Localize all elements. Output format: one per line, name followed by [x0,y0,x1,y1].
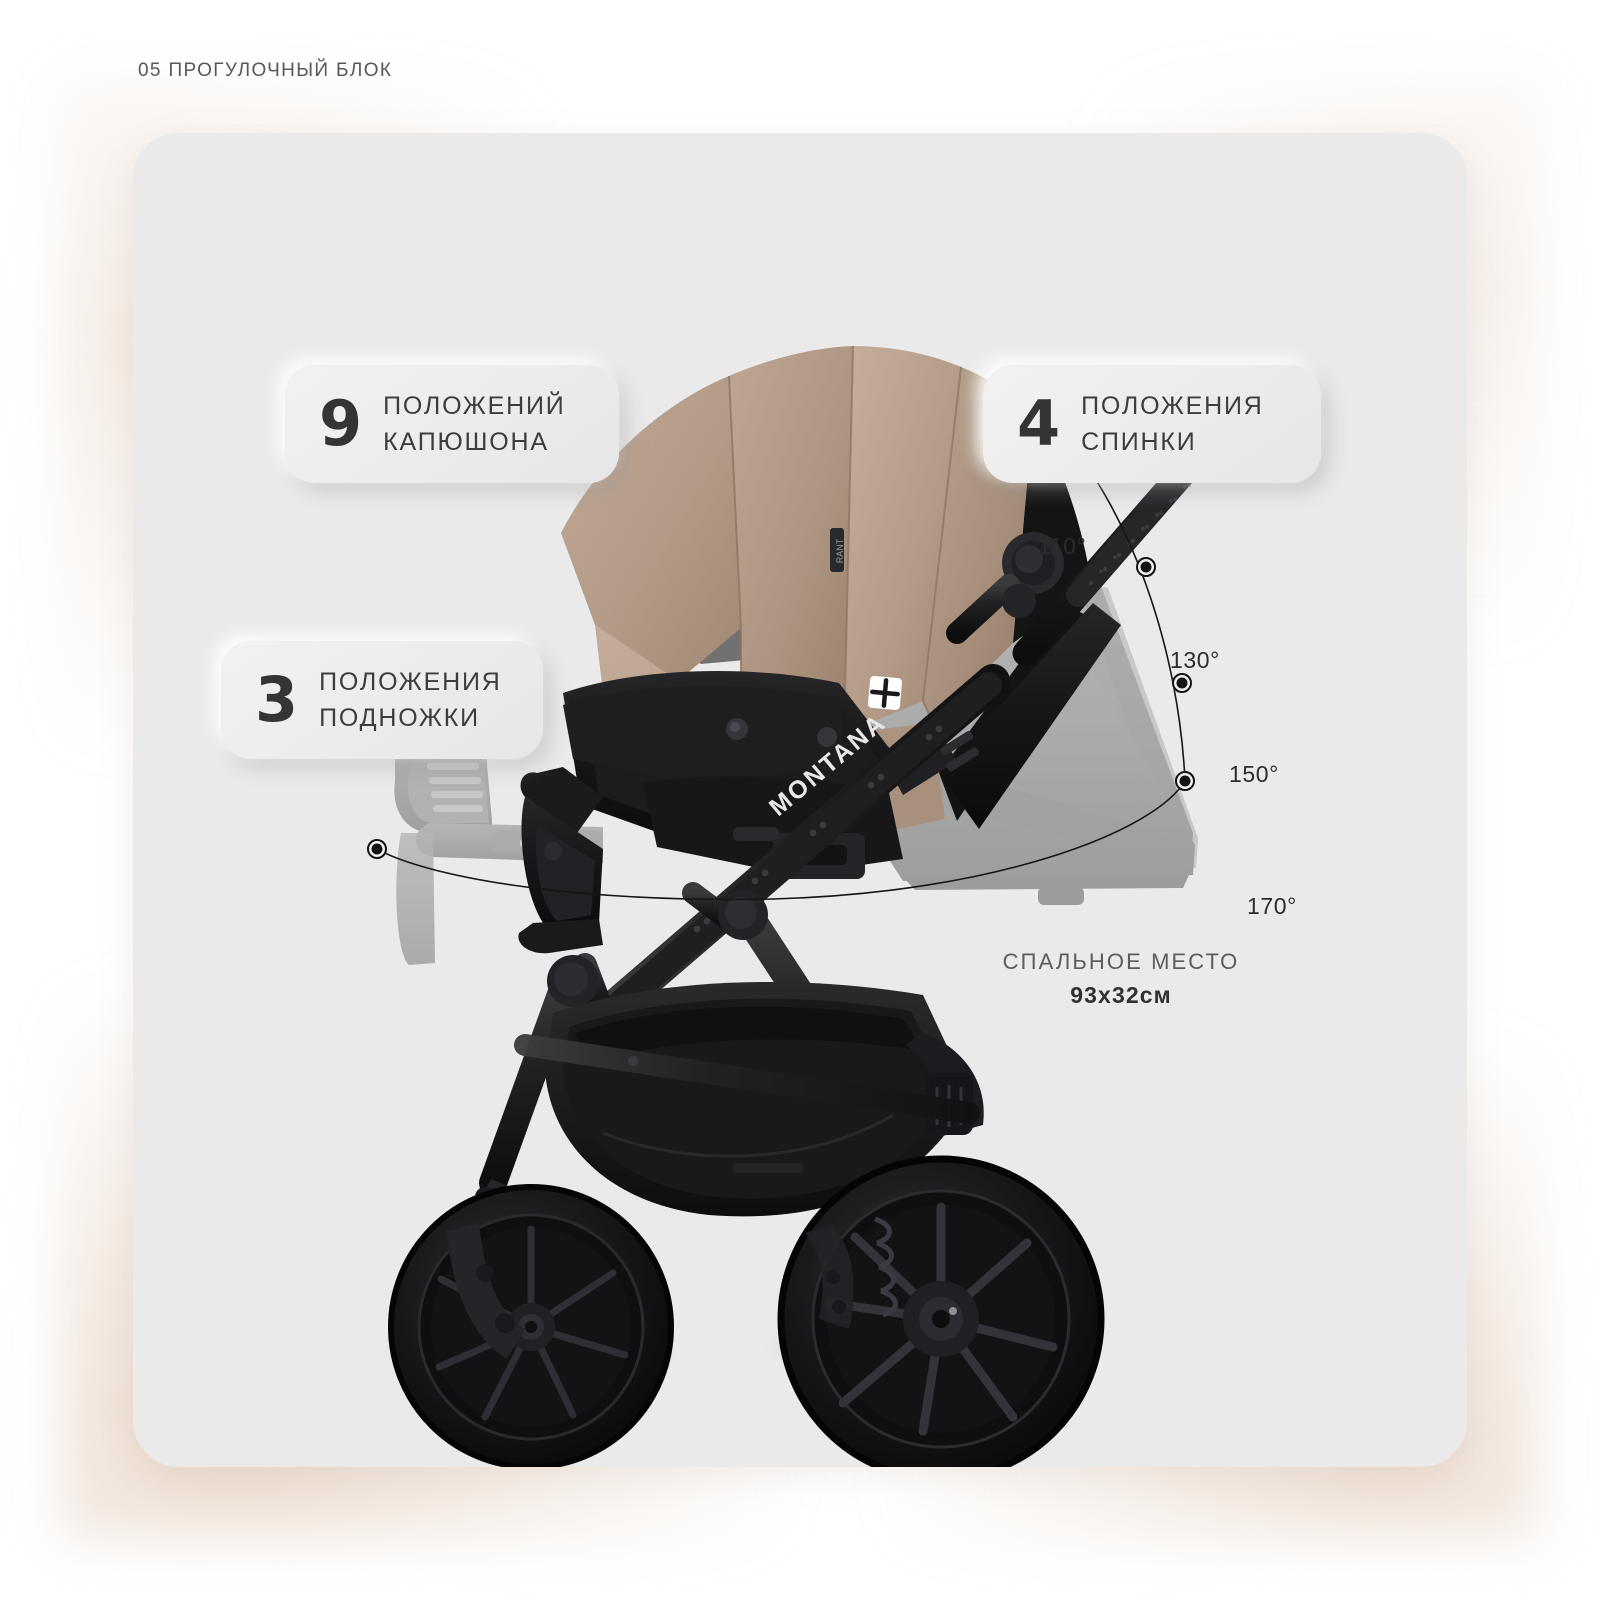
angle-dot-150 [1172,673,1192,693]
svg-text:RANT: RANT [835,538,845,563]
front-wheel [391,1187,671,1467]
angle-label-110: 110° [1038,533,1086,560]
badge-footrest-positions[interactable]: 3 ПОЛОЖЕНИЯ ПОДНОЖКИ [221,641,543,759]
sleeping-area-label: СПАЛЬНОЕ МЕСТО [971,949,1271,975]
badge-backrest-positions[interactable]: 4 ПОЛОЖЕНИЯ СПИНКИ [983,365,1321,483]
footrest-arc-endpoint-dot [367,839,387,859]
main-content-card: RANT [133,133,1467,1467]
badge-footrest-number: 3 [255,669,297,731]
badge-footrest-line1: ПОЛОЖЕНИЯ [319,668,501,697]
sleeping-area-value: 93x32см [971,982,1271,1009]
rear-wheel [781,1159,1101,1467]
badge-backrest-line2: СПИНКИ [1081,428,1263,457]
badge-backrest-line1: ПОЛОЖЕНИЯ [1081,392,1263,421]
badge-hood-line2: КАПЮШОНА [383,428,565,457]
footrest [518,767,603,953]
angle-dot-170 [1175,771,1195,791]
angle-label-130: 130° [1170,647,1220,674]
angle-label-170: 170° [1247,893,1297,920]
badge-backrest-number: 4 [1017,393,1059,455]
stroller-illustration: RANT [133,133,1467,1467]
angle-label-150: 150° [1229,761,1279,788]
angle-dot-130 [1136,557,1156,577]
badge-footrest-line2: ПОДНОЖКИ [319,704,501,733]
badge-hood-number: 9 [319,393,361,455]
sleeping-area-info: СПАЛЬНОЕ МЕСТО 93x32см [971,949,1271,1009]
badge-hood-positions[interactable]: 9 ПОЛОЖЕНИЙ КАПЮШОНА [285,365,619,483]
badge-hood-line1: ПОЛОЖЕНИЙ [383,392,565,421]
page-title: 05 ПРОГУЛОЧНЫЙ БЛОК [138,60,392,82]
